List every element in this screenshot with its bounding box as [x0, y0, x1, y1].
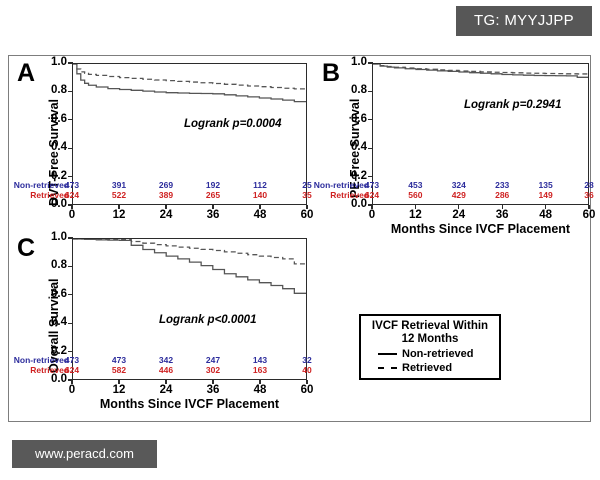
at-risk-count: 522 — [106, 190, 132, 200]
x-tick-label: 0 — [57, 209, 87, 221]
at-risk-count: 391 — [106, 180, 132, 190]
at-risk-count: 149 — [533, 190, 559, 200]
legend-title-line1: IVCF Retrieval Within — [361, 320, 499, 333]
y-tick-label: 0.6 — [341, 113, 367, 125]
at-risk-count: 473 — [59, 355, 85, 365]
at-risk-count: 32 — [294, 355, 320, 365]
y-tick-mark — [68, 62, 73, 63]
panel-c: C Overall Survival Logrank p<0.0001 Mont… — [9, 234, 314, 419]
at-risk-count: 233 — [489, 180, 515, 190]
legend-title-line2: 12 Months — [361, 333, 499, 346]
at-risk-count: 453 — [402, 180, 428, 190]
x-tick-label: 0 — [57, 384, 87, 396]
y-tick-mark — [68, 176, 73, 177]
y-tick-label: 0.4 — [41, 141, 67, 153]
y-tick-mark — [68, 91, 73, 92]
x-tick-label: 24 — [151, 384, 181, 396]
at-risk-count: 624 — [59, 190, 85, 200]
y-tick-mark — [368, 148, 373, 149]
tg-watermark-badge: TG: MYYJJPP — [456, 6, 592, 36]
y-tick-mark — [368, 119, 373, 120]
y-tick-label: 0.4 — [341, 141, 367, 153]
at-risk-count: 624 — [359, 190, 385, 200]
curve-retrieved — [73, 64, 306, 89]
y-tick-label: 1.0 — [341, 56, 367, 68]
y-tick-label: 0.6 — [41, 113, 67, 125]
at-risk-count: 473 — [106, 355, 132, 365]
y-tick-label: 0.8 — [41, 84, 67, 96]
legend-entry-retrieved: Retrieved — [361, 362, 499, 374]
x-tick-label: 48 — [245, 384, 275, 396]
y-tick-mark — [68, 119, 73, 120]
x-tick-label: 12 — [104, 384, 134, 396]
panel-b-x-axis-title: Months Since IVCF Placement — [372, 222, 589, 236]
panel-b-letter: B — [322, 61, 340, 86]
at-risk-count: 473 — [359, 180, 385, 190]
at-risk-count: 163 — [247, 365, 273, 375]
y-tick-label: 1.0 — [41, 231, 67, 243]
legend-entry-non-retrieved: Non-retrieved — [361, 348, 499, 360]
panel-c-logrank-annotation: Logrank p<0.0001 — [159, 314, 256, 326]
at-risk-count: 265 — [200, 190, 226, 200]
at-risk-count: 112 — [247, 180, 273, 190]
y-tick-mark — [68, 266, 73, 267]
y-tick-mark — [368, 62, 373, 63]
legend-entry-label: Non-retrieved — [402, 348, 474, 360]
legend-box: IVCF Retrieval Within 12 Months Non-retr… — [359, 314, 501, 380]
x-tick-label: 36 — [198, 209, 228, 221]
panel-c-letter: C — [17, 236, 35, 261]
panel-a: A DVT-Free Survival Logrank p=0.0004 0.0… — [9, 56, 314, 236]
y-tick-mark — [368, 176, 373, 177]
y-tick-label: 0.4 — [41, 316, 67, 328]
figure-panel-container: A DVT-Free Survival Logrank p=0.0004 0.0… — [8, 55, 591, 422]
at-risk-count: 40 — [294, 365, 320, 375]
panel-b: B PE-Free Survival Logrank p=0.2941 Mont… — [314, 56, 592, 236]
at-risk-count: 192 — [200, 180, 226, 190]
x-tick-label: 0 — [357, 209, 387, 221]
x-tick-label: 24 — [151, 209, 181, 221]
at-risk-count: 560 — [402, 190, 428, 200]
at-risk-count: 389 — [153, 190, 179, 200]
panel-a-letter: A — [17, 61, 35, 86]
x-tick-label: 24 — [444, 209, 474, 221]
y-tick-mark — [68, 294, 73, 295]
at-risk-count: 269 — [153, 180, 179, 190]
y-tick-label: 0.6 — [41, 288, 67, 300]
y-tick-label: 1.0 — [41, 56, 67, 68]
panel-b-logrank-annotation: Logrank p=0.2941 — [464, 99, 561, 111]
legend-entry-label: Retrieved — [402, 362, 452, 374]
x-tick-label: 12 — [104, 209, 134, 221]
at-risk-count: 247 — [200, 355, 226, 365]
y-tick-mark — [68, 323, 73, 324]
at-risk-count: 429 — [446, 190, 472, 200]
at-risk-count: 286 — [489, 190, 515, 200]
at-risk-count: 302 — [200, 365, 226, 375]
at-risk-count: 582 — [106, 365, 132, 375]
dashed-line-swatch-icon — [378, 367, 397, 369]
panel-c-x-axis-title: Months Since IVCF Placement — [72, 397, 307, 411]
y-tick-label: 0.8 — [41, 259, 67, 271]
at-risk-count: 473 — [59, 180, 85, 190]
at-risk-count: 324 — [446, 180, 472, 190]
y-tick-mark — [68, 237, 73, 238]
at-risk-count: 342 — [153, 355, 179, 365]
y-tick-label: 0.8 — [341, 84, 367, 96]
panel-a-logrank-annotation: Logrank p=0.0004 — [184, 118, 281, 130]
solid-line-swatch-icon — [378, 353, 397, 355]
at-risk-count: 446 — [153, 365, 179, 375]
x-tick-label: 60 — [292, 384, 322, 396]
x-tick-label: 12 — [400, 209, 430, 221]
x-tick-label: 36 — [487, 209, 517, 221]
at-risk-count: 624 — [59, 365, 85, 375]
x-tick-label: 48 — [245, 209, 275, 221]
y-tick-mark — [368, 91, 373, 92]
x-tick-label: 60 — [574, 209, 600, 221]
y-tick-mark — [68, 148, 73, 149]
curve-non-retrieved — [73, 64, 306, 102]
at-risk-count: 140 — [247, 190, 273, 200]
url-watermark-badge: www.peracd.com — [12, 440, 157, 468]
at-risk-count: 28 — [576, 180, 600, 190]
at-risk-count: 135 — [533, 180, 559, 190]
at-risk-count: 143 — [247, 355, 273, 365]
at-risk-count: 36 — [576, 190, 600, 200]
x-tick-label: 48 — [531, 209, 561, 221]
x-tick-label: 36 — [198, 384, 228, 396]
y-tick-mark — [68, 351, 73, 352]
